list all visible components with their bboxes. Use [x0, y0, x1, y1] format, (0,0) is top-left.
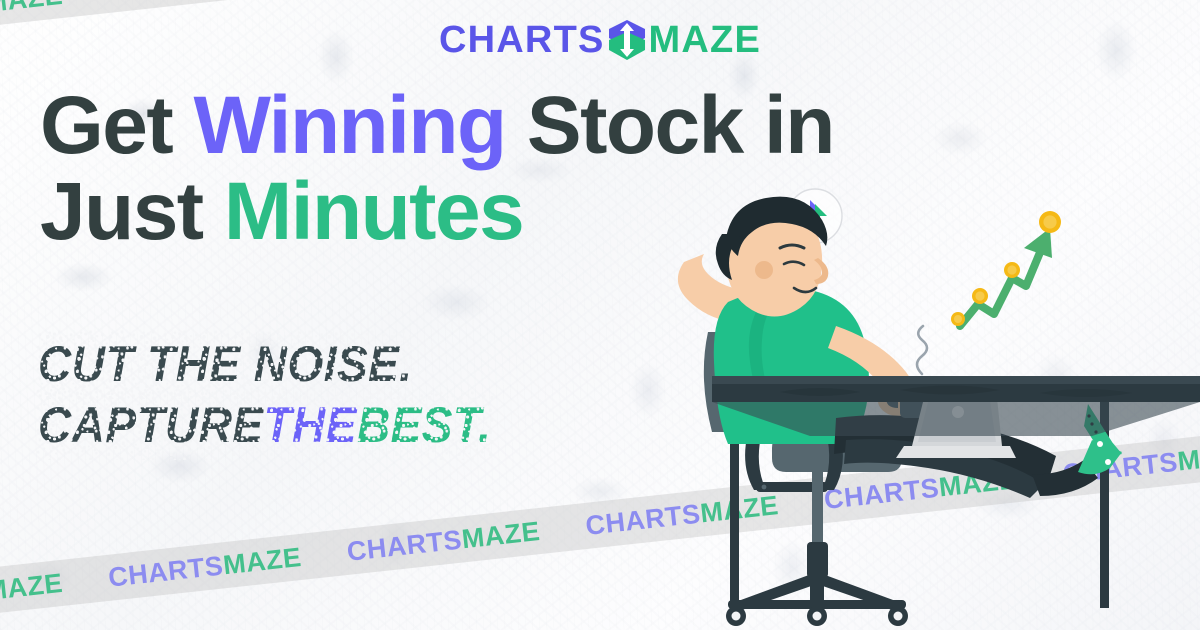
- coin: [1039, 211, 1061, 233]
- tagline-line-2: CAPTURE THE BEST.: [38, 395, 491, 456]
- relaxing-investor-illustration: [660, 186, 1200, 630]
- tagline: CUT THE NOISE. CAPTURE THE BEST.: [38, 334, 531, 456]
- tagline-line-1: CUT THE NOISE.: [38, 334, 491, 395]
- tagline-cut-the-noise: CUT THE NOISE.: [38, 334, 412, 395]
- tagline-the: THE: [264, 395, 357, 456]
- coin: [972, 288, 988, 304]
- tagline-capture: CAPTURE: [38, 395, 264, 456]
- headline-part-winning: Winning: [193, 80, 505, 171]
- promo-banner: CHARTSMAZE CHARTSMAZE CHARTSMAZE CHARTSM…: [0, 0, 1200, 630]
- rising-chart-arrow: [951, 211, 1061, 326]
- sneaker: [1078, 230, 1122, 474]
- coin: [951, 312, 965, 326]
- chartsmaze-logo-mark-icon: [607, 18, 647, 62]
- brand-name-charts: CHARTS: [439, 21, 605, 59]
- desk-top: [712, 376, 1200, 436]
- headline-part-just: Just: [40, 166, 224, 257]
- headline-part-minutes: Minutes: [224, 166, 523, 257]
- headline-part-get: Get: [40, 80, 193, 171]
- tagline-best: BEST.: [357, 395, 491, 456]
- brand-name-maze: MAZE: [649, 21, 761, 59]
- headline-part-stock-in: Stock in: [506, 80, 834, 171]
- hero-illustration: [660, 186, 1200, 630]
- coin: [1004, 262, 1020, 278]
- brand-logo[interactable]: CHARTS MAZE: [0, 18, 1200, 62]
